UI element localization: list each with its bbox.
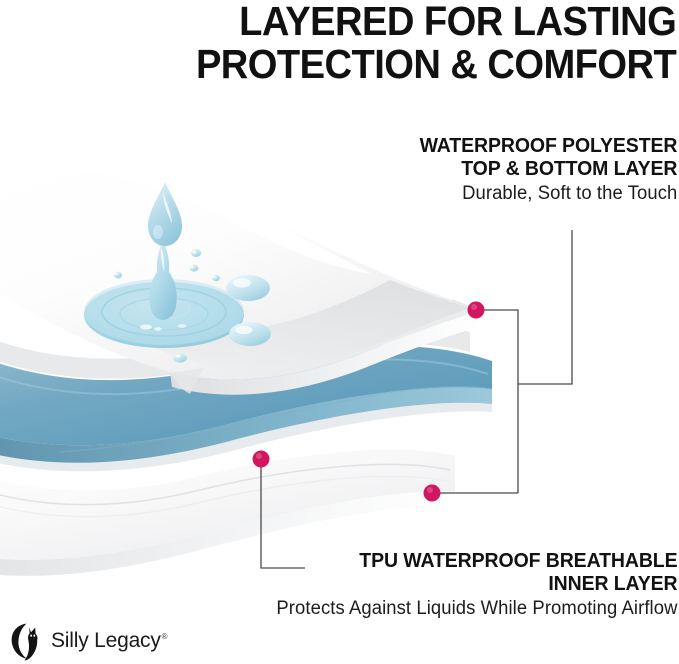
brand-wordmark: Silly Legacy® xyxy=(51,629,167,653)
brand-name: Silly Legacy xyxy=(51,629,161,652)
brand-logo[interactable]: Silly Legacy® xyxy=(9,621,167,661)
registered-trademark-symbol: ® xyxy=(162,632,168,641)
infographic-canvas: LAYERED FOR LASTING PROTECTION & COMFORT xyxy=(0,0,679,664)
callout-inner-heading: TPU WATERPROOF BREATHABLE INNER LAYER xyxy=(284,549,677,595)
callout-top-heading-line-1: WATERPROOF POLYESTER xyxy=(419,134,677,157)
callout-top-layer: WATERPROOF POLYESTER TOP & BOTTOM LAYER … xyxy=(406,134,677,206)
callout-top-subtitle: Durable, Soft to the Touch xyxy=(414,182,677,206)
marker-bottom-layer[interactable] xyxy=(424,485,441,502)
callout-inner-subtitle: Protects Against Liquids While Promoting… xyxy=(276,597,677,621)
callout-inner-heading-line-2: INNER LAYER xyxy=(284,572,677,595)
callout-top-heading: WATERPROOF POLYESTER TOP & BOTTOM LAYER xyxy=(419,134,677,180)
cat-silhouette-icon xyxy=(9,621,47,661)
leader-line-top-text xyxy=(518,230,572,384)
marker-top-layer[interactable] xyxy=(468,302,485,319)
callout-inner-layer: TPU WATERPROOF BREATHABLE INNER LAYER Pr… xyxy=(264,549,678,621)
callout-top-heading-line-2: TOP & BOTTOM LAYER xyxy=(419,157,677,180)
marker-inner-layer[interactable] xyxy=(253,451,270,468)
callout-inner-heading-line-1: TPU WATERPROOF BREATHABLE xyxy=(284,549,677,572)
